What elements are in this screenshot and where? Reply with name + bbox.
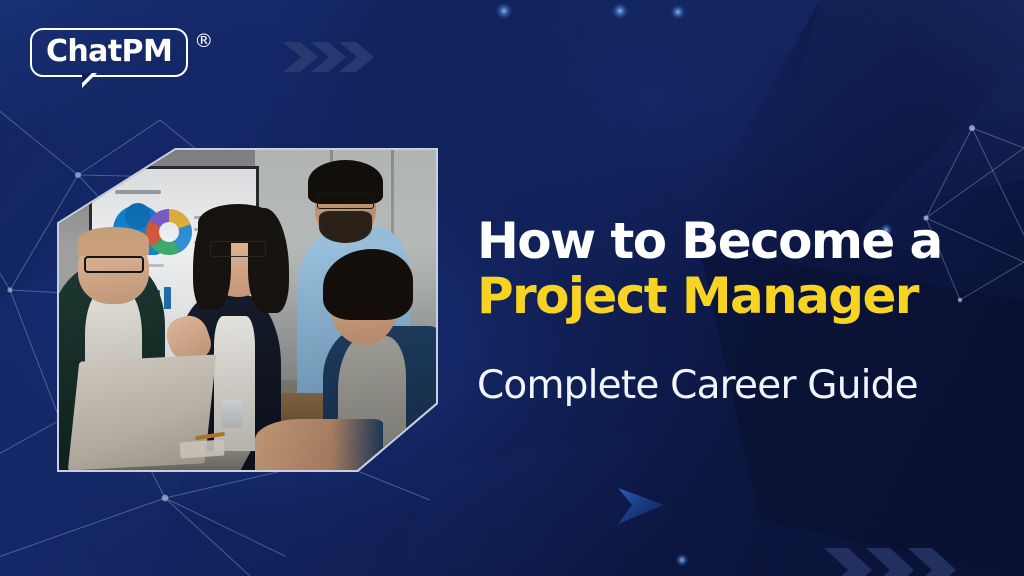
hero-image <box>59 150 436 470</box>
registered-trademark-icon: ® <box>194 32 213 51</box>
speech-bubble-tail-mask <box>82 73 92 83</box>
headline-line-1: How to Become a <box>477 214 977 269</box>
subtitle-block: Complete Career Guide <box>477 363 918 408</box>
headline-block: How to Become a Project Manager <box>477 214 977 324</box>
photo-vignette <box>59 150 436 470</box>
speech-bubble-icon: ChatPM <box>30 28 188 77</box>
blue-arrow-accent <box>618 488 664 524</box>
chevrons-bottom-right <box>824 548 956 576</box>
subtitle-text: Complete Career Guide <box>477 363 918 408</box>
chevrons-top-left <box>283 42 374 72</box>
logo-text: ChatPM <box>46 37 172 68</box>
hero-image-frame <box>57 148 438 472</box>
headline-line-2: Project Manager <box>477 269 977 324</box>
banner-canvas: ChatPM ® <box>0 0 1024 576</box>
brand-logo[interactable]: ChatPM ® <box>30 28 213 77</box>
